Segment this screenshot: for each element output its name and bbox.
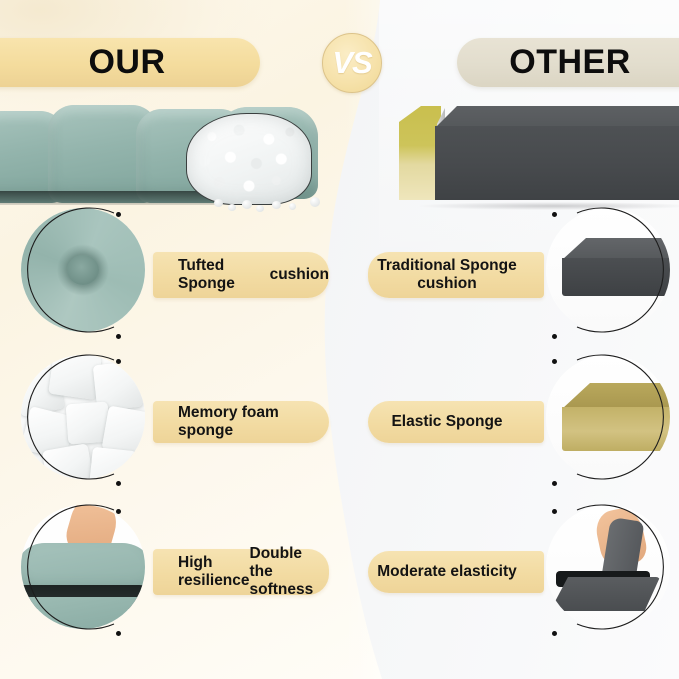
callout-dot <box>552 509 557 514</box>
foam-fill-cutaway <box>186 113 312 205</box>
label-high-resilience: High resilience Double the softness <box>153 549 329 595</box>
gold-slab-top <box>562 383 670 409</box>
image-memory-foam-sponge <box>21 355 145 479</box>
label-line: Traditional Sponge <box>377 257 517 274</box>
header-our: OUR <box>0 38 260 87</box>
row-our-3: High resilience Double the softness <box>0 505 340 655</box>
row-our-2: Memory foam sponge <box>0 355 340 505</box>
infographic-canvas: OUR OTHER VS <box>0 0 679 679</box>
vs-badge: VS <box>322 33 382 93</box>
label-line: Memory foam sponge <box>178 404 329 440</box>
vs-label: VS <box>332 45 371 81</box>
label-traditional-sponge-cushion: Traditional Sponge cushion <box>368 252 544 298</box>
callout-dot <box>116 359 121 364</box>
slab-top-face <box>435 106 679 128</box>
label-line: cushion <box>417 275 476 292</box>
image-traditional-sponge-cushion <box>546 208 670 332</box>
cushion-bottom-layer <box>21 597 145 629</box>
label-line: High resilience <box>178 554 250 590</box>
callout-dot <box>116 631 121 636</box>
label-line: cushion <box>270 266 329 284</box>
callout-dot <box>116 509 121 514</box>
header-our-label: OUR <box>88 43 165 82</box>
row-our-1: Tufted Sponge cushion <box>0 208 340 358</box>
row-other-1: Traditional Sponge cushion <box>340 208 679 358</box>
cushion-base-slab <box>550 577 660 611</box>
tuft-button <box>67 255 99 285</box>
callout-dot <box>116 212 121 217</box>
grey-slab-art <box>546 208 670 332</box>
callout-dot <box>552 334 557 339</box>
label-elastic-sponge: Elastic Sponge <box>368 401 544 443</box>
slab-front-face <box>435 126 679 200</box>
grey-slab-front <box>562 258 670 296</box>
row-other-3: Moderate elasticity <box>340 505 679 655</box>
cushion-bend-art <box>546 505 670 629</box>
label-line: Tufted Sponge <box>178 257 270 293</box>
callout-dot <box>116 481 121 486</box>
label-moderate-elasticity: Moderate elasticity <box>368 551 544 593</box>
header-other: OTHER <box>457 38 679 87</box>
label-line: Double the softness <box>250 545 329 599</box>
label-memory-foam-sponge: Memory foam sponge <box>153 401 329 443</box>
image-elastic-sponge <box>546 355 670 479</box>
foam-cube <box>89 447 137 479</box>
hero-image-other <box>399 106 679 206</box>
foam-pellet <box>214 199 223 207</box>
label-tufted-sponge-cushion: Tufted Sponge cushion <box>153 252 329 298</box>
header-other-label: OTHER <box>509 43 631 82</box>
hero-image-our <box>0 103 306 213</box>
cushion-press-art <box>21 505 145 629</box>
tufted-fabric-art <box>21 208 145 332</box>
callout-dot <box>116 334 121 339</box>
gold-slab-art <box>546 355 670 479</box>
callout-dot <box>552 631 557 636</box>
callout-dot <box>552 212 557 217</box>
label-line: Elastic Sponge <box>391 413 502 431</box>
image-moderate-elasticity <box>546 505 670 629</box>
grey-slab-top <box>562 238 670 260</box>
image-tufted-sponge-cushion <box>21 208 145 332</box>
row-other-2: Elastic Sponge <box>340 355 679 505</box>
label-line: Moderate elasticity <box>377 563 517 581</box>
image-high-resilience <box>21 505 145 629</box>
callout-dot <box>552 481 557 486</box>
foam-pellet <box>310 197 320 207</box>
callout-dot <box>552 359 557 364</box>
gold-slab-front <box>562 407 670 451</box>
foam-cubes-art <box>21 355 145 479</box>
